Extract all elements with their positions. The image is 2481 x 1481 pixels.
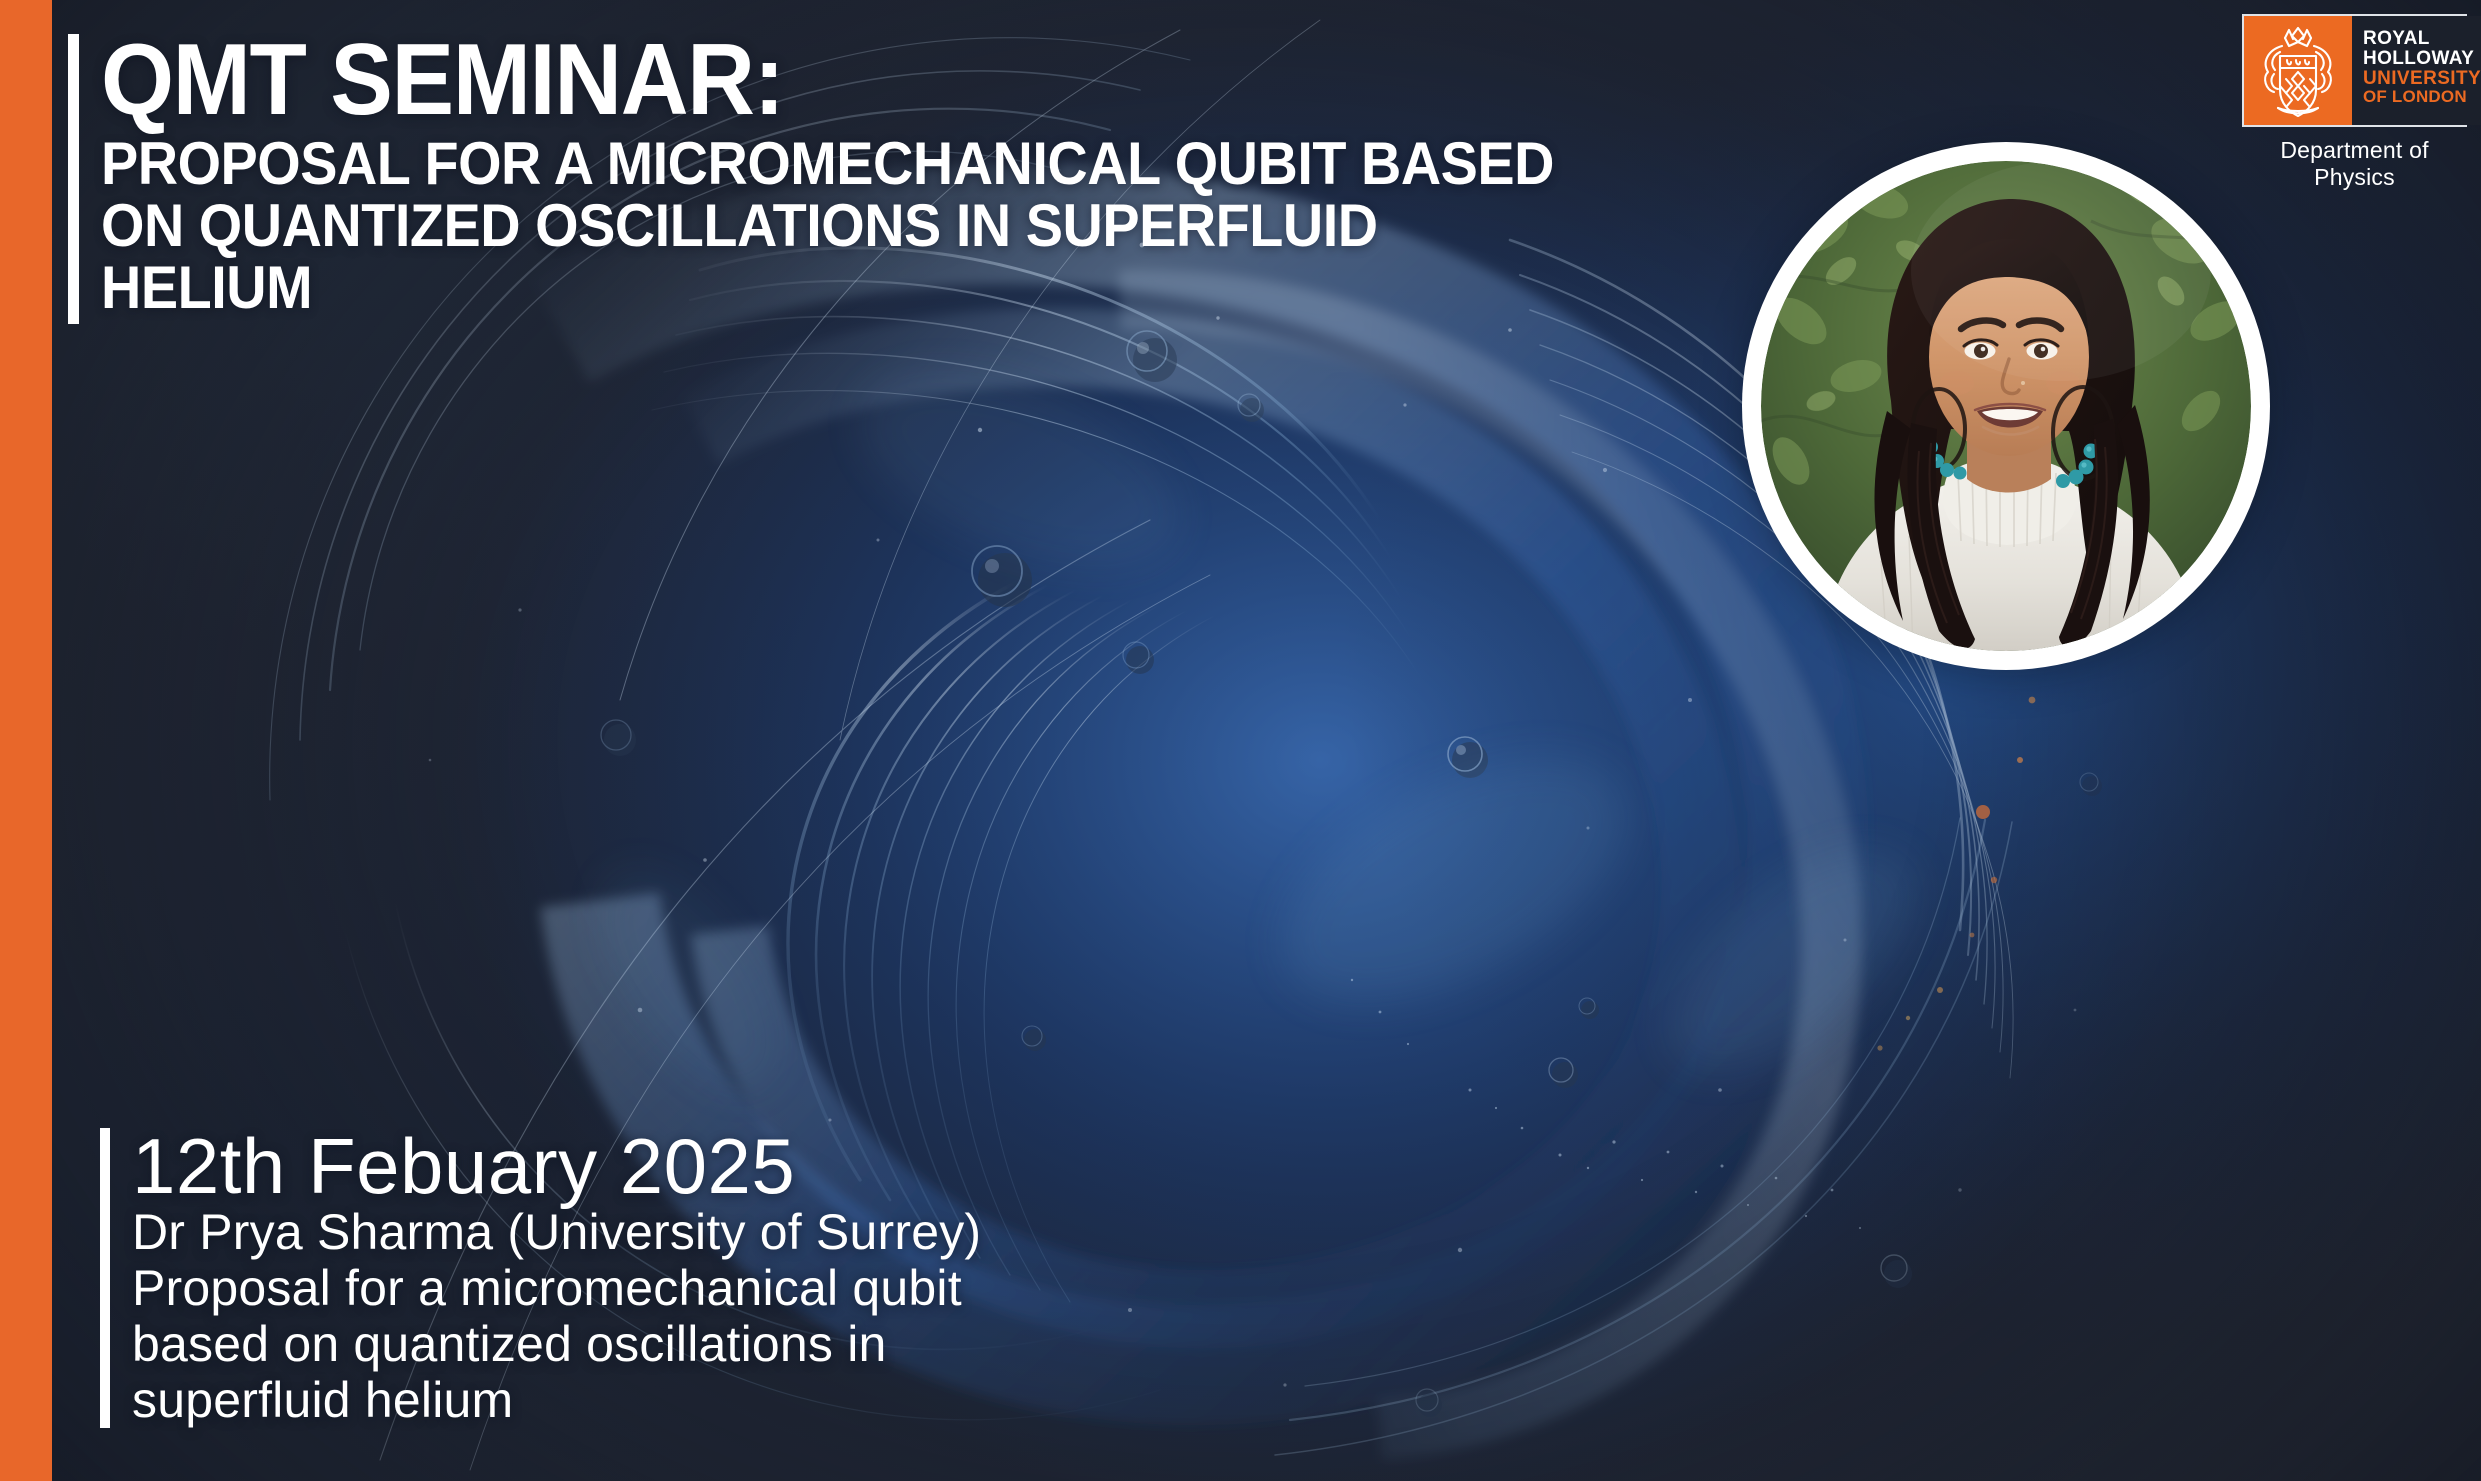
talk-title-line-2: based on quantized oscillations in [132, 1316, 981, 1372]
footer-accent-bar [100, 1128, 110, 1428]
logo-line-university: UNIVERSITY [2363, 69, 2481, 89]
logo-line-of-london: OF LONDON [2363, 88, 2481, 106]
title-accent-bar [68, 34, 79, 324]
crest-icon [2244, 16, 2352, 125]
logo-box: ROYAL HOLLOWAY UNIVERSITY OF LONDON [2242, 14, 2467, 127]
seminar-subtitle-line-3: HELIUM [101, 257, 1554, 319]
footer-block: 12th Febuary 2025 Dr Prya Sharma (Univer… [100, 1128, 981, 1428]
seminar-subtitle: PROPOSAL FOR A MICROMECHANICAL QUBIT BAS… [101, 133, 1554, 318]
seminar-poster: QMT SEMINAR: PROPOSAL FOR A MICROMECHANI… [0, 0, 2481, 1481]
left-orange-rail [0, 0, 52, 1481]
seminar-date: 12th Febuary 2025 [132, 1128, 981, 1204]
department-label: Department of Physics [2242, 137, 2467, 191]
speaker-portrait [1742, 142, 2270, 670]
talk-title-line-1: Proposal for a micromechanical qubit [132, 1260, 981, 1316]
royal-holloway-logo: ROYAL HOLLOWAY UNIVERSITY OF LONDON Depa… [2242, 14, 2467, 191]
logo-wordmark: ROYAL HOLLOWAY UNIVERSITY OF LONDON [2352, 16, 2481, 125]
logo-line-holloway: HOLLOWAY [2363, 49, 2481, 69]
seminar-subtitle-line-2: ON QUANTIZED OSCILLATIONS IN SUPERFLUID [101, 195, 1554, 257]
talk-title-line-3: superfluid helium [132, 1372, 981, 1428]
speaker-name: Dr Prya Sharma (University of Surrey) [132, 1204, 981, 1260]
coat-of-arms-icon [2244, 16, 2352, 125]
speaker-portrait-image [1761, 161, 2251, 651]
title-block: QMT SEMINAR: PROPOSAL FOR A MICROMECHANI… [68, 34, 1768, 324]
seminar-subtitle-line-1: PROPOSAL FOR A MICROMECHANICAL QUBIT BAS… [101, 133, 1554, 195]
portrait-illustration [1761, 161, 2251, 651]
logo-line-royal: ROYAL [2363, 29, 2481, 49]
seminar-title: QMT SEMINAR: [101, 34, 1554, 127]
